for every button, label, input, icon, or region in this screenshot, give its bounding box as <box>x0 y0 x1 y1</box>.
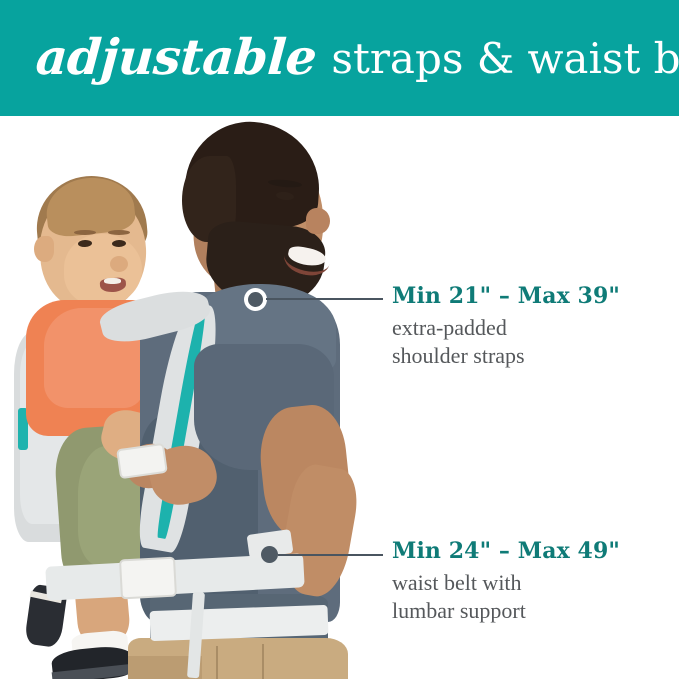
callout-dot-shoulder-straps <box>248 292 263 307</box>
callout-body-line1-shoulder-straps: extra-padded <box>392 314 620 342</box>
pants-seam <box>216 646 218 679</box>
callout-leader-line-shoulder-straps <box>266 298 383 300</box>
callout-leader-line-waist-belt <box>278 554 383 556</box>
callout-title-shoulder-straps: Min 21" – Max 39" <box>392 284 620 308</box>
baby-cheek <box>64 234 142 306</box>
banner-script-word: adjustable <box>34 33 318 82</box>
carrier-waist-buckle <box>119 557 177 600</box>
header-banner: adjustable straps & waist belt <box>0 0 679 116</box>
baby-ear <box>34 236 54 262</box>
man-nose <box>306 208 330 234</box>
baby-hair-highlight <box>43 174 136 239</box>
callout-title-waist-belt: Min 24" – Max 49" <box>392 539 620 563</box>
baby-brow-left <box>74 230 96 235</box>
callout-body-line1-waist-belt: waist belt with <box>392 569 620 597</box>
carrier-lumbar-pad <box>150 605 329 641</box>
callout-body-line2-waist-belt: lumbar support <box>392 597 620 625</box>
baby-nose <box>110 256 128 272</box>
callout-shoulder-straps: Min 21" – Max 39" extra-padded shoulder … <box>392 284 620 371</box>
baby-brow-right <box>108 230 130 235</box>
pants-seam <box>262 644 264 679</box>
banner-slab-words: straps & waist belt <box>331 38 679 80</box>
callout-body-line2-shoulder-straps: shoulder straps <box>392 342 620 370</box>
baby-teeth <box>104 278 121 284</box>
callout-waist-belt: Min 24" – Max 49" waist belt with lumbar… <box>392 539 620 626</box>
infographic-root: adjustable straps & waist belt <box>0 0 679 679</box>
banner-text-group: adjustable straps & waist belt <box>36 0 669 116</box>
callout-dot-waist-belt <box>261 546 278 563</box>
